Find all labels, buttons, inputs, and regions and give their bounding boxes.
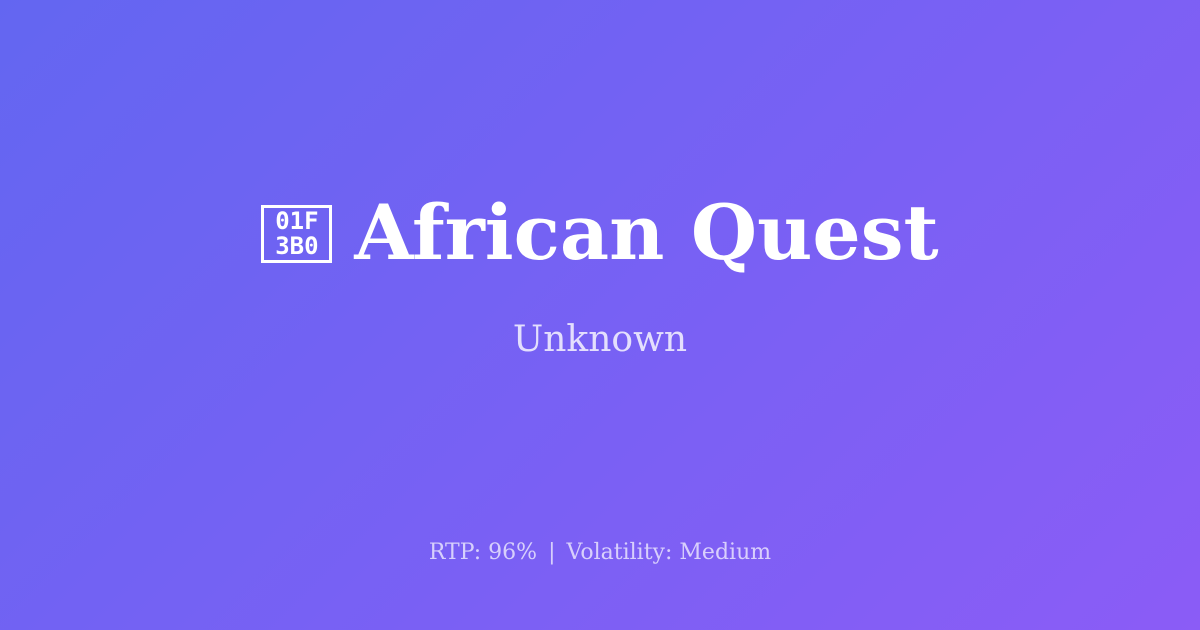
hero-block: 01F 3B0 African Quest Unknown [0, 0, 1200, 592]
stats-separator: | [544, 540, 559, 565]
game-title: African Quest [354, 193, 938, 273]
rtp-value: 96% [488, 540, 537, 565]
title-row: 01F 3B0 African Quest [261, 193, 938, 273]
slot-machine-icon-hex-high: 01F [275, 209, 318, 234]
slot-machine-icon: 01F 3B0 [261, 205, 332, 263]
volatility-value: Medium [679, 540, 771, 565]
rtp-label: RTP: [429, 540, 481, 565]
game-share-card: 01F 3B0 African Quest Unknown RTP: 96% |… [0, 0, 1200, 630]
game-provider: Unknown [513, 318, 687, 361]
slot-machine-icon-hex-low: 3B0 [275, 234, 318, 259]
volatility-label: Volatility: [567, 540, 673, 565]
game-stats: RTP: 96% | Volatility: Medium [0, 539, 1200, 568]
